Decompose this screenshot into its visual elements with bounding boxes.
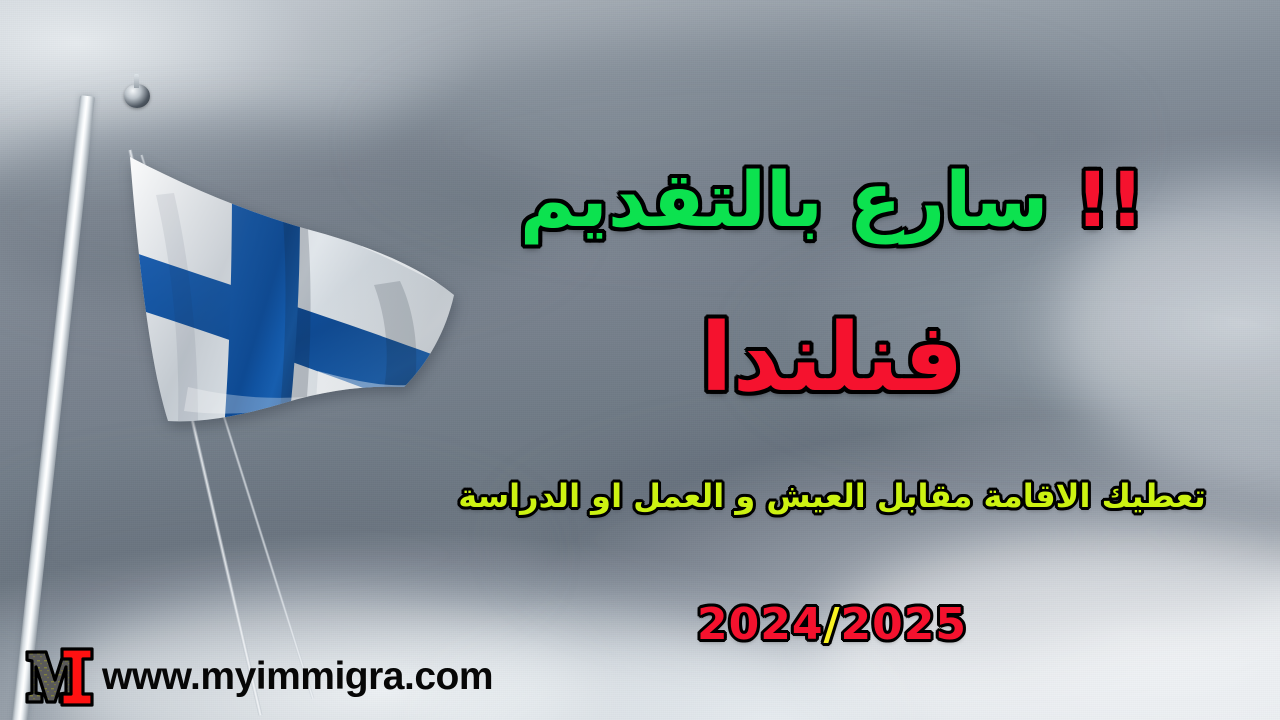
watermark-url[interactable]: www.myimmigra.com (102, 657, 493, 698)
watermark[interactable]: www.myimmigra.com (22, 644, 493, 710)
sky-background (0, 0, 1280, 720)
promo-banner: !! سارع بالتقديم فنلندا تعطيك الاقامة مق… (0, 0, 1280, 720)
myimmigra-logo-icon[interactable] (22, 644, 100, 710)
